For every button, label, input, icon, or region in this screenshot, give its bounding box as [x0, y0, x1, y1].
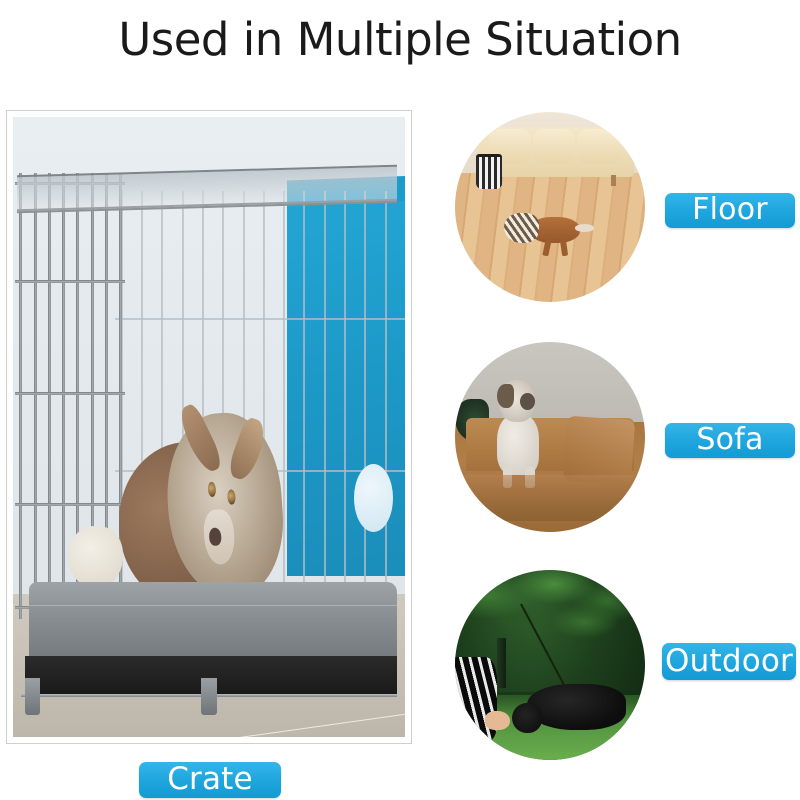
floor-scene-dog-tail [575, 224, 594, 232]
label-badge-outdoor[interactable]: Outdoor [662, 643, 796, 680]
label-badge-floor[interactable]: Floor [665, 193, 795, 228]
outdoor-scene-dog-head [512, 703, 542, 733]
crate-foot-left [25, 678, 41, 715]
situation-photo-outdoor[interactable] [455, 570, 645, 760]
crate-photo[interactable] [13, 117, 405, 737]
sofa-scene-seat [459, 475, 641, 521]
toy-left [68, 526, 123, 588]
sofa-scene-dog-body [497, 414, 539, 475]
sofa-scene-dog-face [520, 393, 535, 410]
floor-scene-dog-head [504, 213, 538, 243]
main-photo-frame[interactable] [6, 110, 412, 744]
situation-photo-floor[interactable] [455, 112, 645, 302]
page-title: Used in Multiple Situation [0, 14, 800, 66]
floor-scene-cushion-2 [533, 129, 575, 163]
situation-photo-sofa[interactable] [455, 342, 645, 532]
floor-scene-cushion-3 [577, 129, 623, 163]
crate-foot-right [201, 678, 217, 715]
floor-scene-striped-basket [476, 154, 503, 189]
sofa-scene-dog-ear [497, 384, 514, 409]
crate-bed [29, 582, 397, 663]
floor-scene-sofa-leg-2 [611, 175, 617, 186]
label-badge-crate[interactable]: Crate [139, 762, 281, 798]
label-badge-sofa[interactable]: Sofa [665, 423, 795, 458]
outdoor-scene-dog-body [527, 684, 626, 730]
outdoor-scene-hand [485, 711, 510, 730]
outdoor-scene-tree-trunk [497, 638, 507, 687]
